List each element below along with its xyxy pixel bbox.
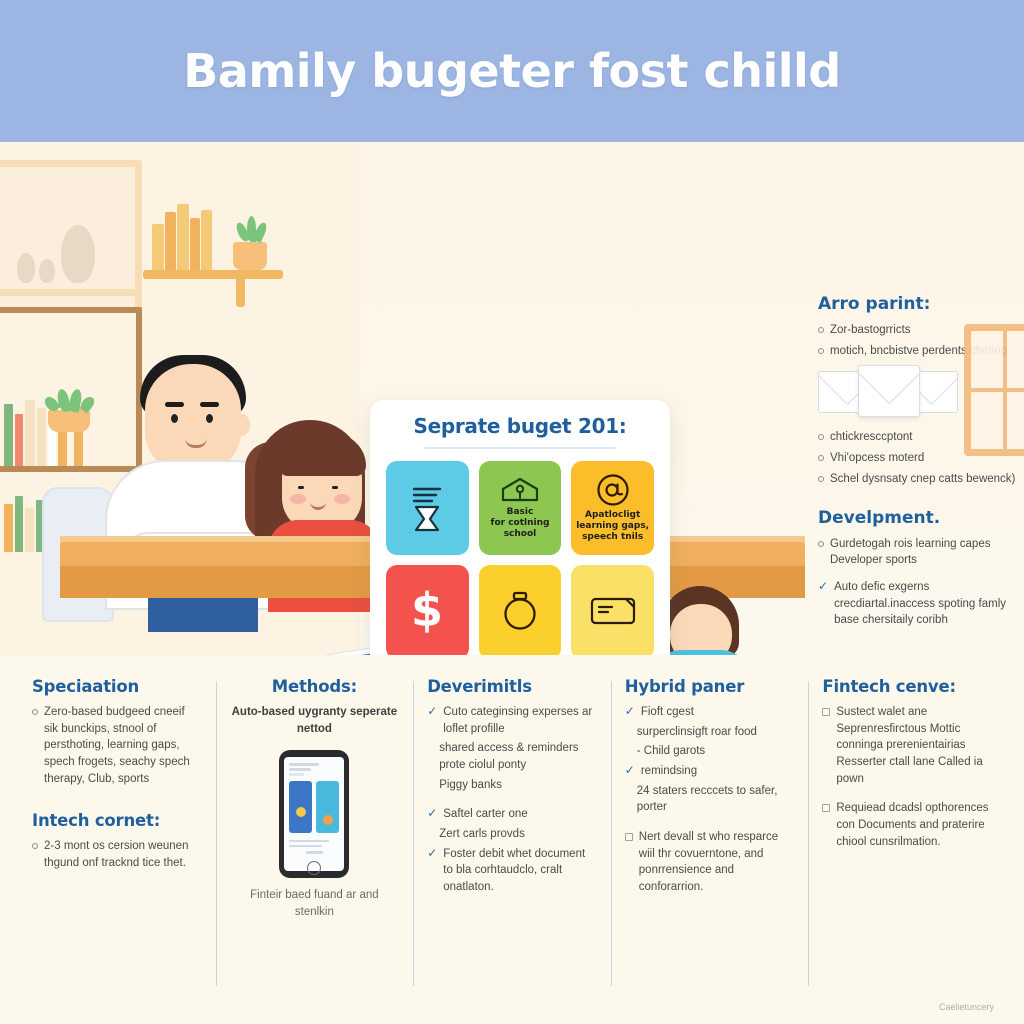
column-heading: Deverimitls [427,677,597,696]
list-item-text: Sustect walet ane Seprenresfirctous Mott… [836,704,992,787]
budget-card: Seprate buget 201: [370,400,670,655]
sidebar-heading-2: Develpment. [818,508,1018,528]
list-item-text: remindsing [641,763,697,780]
card-title: Seprate buget 201: [386,414,654,438]
tile-home[interactable]: Basic for cotlning school [479,461,562,555]
footer-note: Caelietuncery [939,1002,994,1012]
indent-spacer [625,743,631,760]
card-divider [424,447,617,449]
list-item-text: surperclinsigft roar food [637,724,757,741]
vase-small-2 [39,259,55,283]
at-sign-icon [596,473,630,507]
page-header: Bamily bugeter fost chilld [0,0,1024,142]
column-heading: Hybrid paner [625,677,795,696]
tile-document-hourglass[interactable] [386,461,469,555]
sidebar-item-text: Zor-bastogrricts [830,322,911,338]
tile-card[interactable] [571,565,654,655]
list-item: 24 staters recccets to safer, porter [625,783,795,816]
indent-spacer [427,777,433,794]
circle-bullet-icon [818,348,824,354]
check-bullet-icon: ✓ [427,806,437,823]
smartphone-illustration [279,750,349,878]
sidebar-item-text: Auto defic exgerns crecdiartal.inaccess … [834,579,1018,628]
father-ear [234,414,250,436]
list-item: ✓ Saftel carter one [427,806,597,823]
list-item-text: Zert carls provds [439,826,525,843]
column-heading: Fintech cenve: [822,677,992,696]
circle-bullet-icon [818,434,824,440]
list-item: Nert devall st who resparce wiil thr cov… [625,829,795,896]
list-item: 2-3 mont os cersion weunen thgund onf tr… [32,838,202,871]
indent-spacer [625,724,631,741]
list-item: Requiead dcadsl opthorences con Document… [822,800,992,850]
sidebar-item-text: chtickresccptont [830,429,912,445]
tile-label: Basic for cotlning school [491,507,550,540]
sidebar-item-text: Schel dysnsaty cnep catts bewenck) [830,471,1015,487]
list-item-text: Cuto categinsing experses ar loflet prof… [443,704,597,737]
list-item: ✓ remindsing [625,763,795,780]
tile-clock[interactable] [479,565,562,655]
list-item-text: Saftel carter one [443,806,527,823]
list-item-text: Nert devall st who resparce wiil thr cov… [639,829,795,896]
check-bullet-icon: ✓ [427,846,437,896]
list-item-text: Foster debit whet document to bla corhta… [443,846,597,896]
vase-small-1 [17,253,35,283]
column-fintech-cenve: Fintech cenve: Sustect walet ane Seprenr… [808,677,1006,1014]
column-heading: Speciaation [32,677,202,696]
column-heading: Methods: [230,677,400,696]
document-hourglass-icon [406,482,448,532]
list-item: Sustect walet ane Seprenresfirctous Mott… [822,704,992,787]
list-item-text: Requiead dcadsl opthorences con Document… [836,800,992,850]
bottom-panel: Speciaation Zero-based budgeed cneeif si… [0,655,1024,1024]
checkbox-icon[interactable] [822,804,830,812]
circle-bullet-icon [818,476,824,482]
column-speciaation: Speciaation Zero-based budgeed cneeif si… [18,677,216,1014]
envelope-group [818,365,1018,421]
vase-large [61,225,95,283]
indent-spacer [427,826,433,843]
shelf-books [152,204,222,270]
check-bullet-icon: ✓ [625,704,635,721]
list-item: Zert carls provds [427,826,597,843]
father-head [145,364,241,472]
check-bullet-icon: ✓ [818,579,828,628]
illustration-scene: Seprate buget 201: [0,142,1024,655]
sidebar-heading-1: Arro parint: [818,294,1018,314]
list-item: ✓ Fioft cgest [625,704,795,721]
phone-home-button [307,861,321,875]
right-sidebar: Arro parint: Zor-bastogrricts motich, bn… [818,294,1018,655]
column-caption: Finteir baed fuand ar and stenlkin [230,887,400,920]
boy-head [670,604,732,655]
icon-tile-grid: Basic for cotlning school Apatlocligt le… [386,461,654,655]
circle-bullet-icon [32,709,38,715]
shelf-plant-leaves [236,214,266,244]
tile-label: Apatlocligt learning gaps, speech tnils [576,510,649,543]
card-icon [590,595,636,627]
sidebar-item-text: Gurdetogah rois learning capes Developer… [830,536,1018,569]
svg-text:$: $ [411,584,443,637]
list-item-text: shared access & reminders prote ciolul p… [439,740,597,773]
list-item-text: 2-3 mont os cersion weunen thgund onf tr… [44,838,202,871]
page-title: Bamily bugeter fost chilld [183,44,841,98]
sidebar-item: Gurdetogah rois learning capes Developer… [818,536,1018,569]
wall-shelf [143,270,283,279]
check-bullet-icon: ✓ [427,704,437,737]
list-item: ✓ Foster debit whet document to bla corh… [427,846,597,896]
list-item-text: - Child garots [637,743,705,760]
column-methods: Methods: Auto-based uygranty seperate ne… [216,677,414,1014]
clock-icon [500,588,540,634]
sidebar-item-text: Vhi'opcess moterd [830,450,924,466]
list-item-text: Piggy banks [439,777,502,794]
circle-bullet-icon [818,327,824,333]
dollar-icon: $ [410,584,444,638]
list-item: surperclinsigft roar food [625,724,795,741]
envelope-center [858,365,920,417]
shelf-plant-pot [233,242,267,270]
list-item: Piggy banks [427,777,597,794]
sidebar-item: Schel dysnsaty cnep catts bewenck) [818,471,1018,487]
sidebar-item: ✓ Auto defic exgerns crecdiartal.inacces… [818,579,1018,628]
lower-plant-leaves [44,386,96,412]
list-item: - Child garots [625,743,795,760]
tile-at-sign[interactable]: Apatlocligt learning gaps, speech tnils [571,461,654,555]
indent-spacer [625,783,631,816]
circle-bullet-icon [818,455,824,461]
column-deverimitls: Deverimitls ✓ Cuto categinsing experses … [413,677,611,1014]
girl-bangs [278,434,366,476]
list-item: shared access & reminders prote ciolul p… [427,740,597,773]
column-hybrid-paner: Hybrid paner ✓ Fioft cgest surperclinsig… [611,677,809,1014]
column-subtitle: Auto-based uygranty seperate nettod [230,704,400,737]
list-item-text: Fioft cgest [641,704,694,721]
lower-plant-pot [48,410,90,432]
list-item-text: Zero-based budgeed cneeif sik bunckips, … [44,704,202,787]
tile-dollar[interactable]: $ [386,565,469,655]
list-item: Zero-based budgeed cneeif sik bunckips, … [32,704,202,787]
home-icon [500,476,540,504]
column-heading-2: Intech cornet: [32,811,202,830]
list-item-text: 24 staters recccets to safer, porter [637,783,795,816]
checkbox-icon[interactable] [625,833,633,841]
circle-bullet-icon [818,541,824,547]
list-item: ✓ Cuto categinsing experses ar loflet pr… [427,704,597,737]
check-bullet-icon: ✓ [625,763,635,780]
indent-spacer [427,740,433,773]
circle-bullet-icon [32,843,38,849]
checkbox-icon[interactable] [822,708,830,716]
